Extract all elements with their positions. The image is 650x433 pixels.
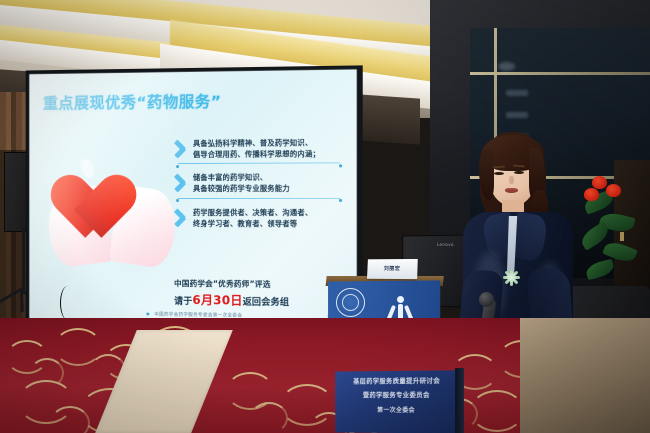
nose <box>509 176 514 184</box>
banner-line-2: 暨药学服务专业委员会 <box>335 390 459 399</box>
bullet-dot <box>176 199 179 202</box>
chevron-right-icon <box>174 174 187 193</box>
microphone-head <box>479 292 494 307</box>
bullet-underline <box>178 163 340 165</box>
bullet-dot <box>339 164 342 167</box>
bullet-line: 具备较强的药学专业服务能力 <box>193 183 346 194</box>
window-reflection <box>506 112 528 118</box>
list-item: 药学服务提供者、决策者、沟通者、 终身学习者、教育者、领导者等 <box>174 207 346 230</box>
window-mullion <box>470 72 650 75</box>
cable <box>60 286 75 320</box>
bullet-text: 储备丰富的药学知识、 具备较强的药学专业服务能力 <box>193 172 346 195</box>
chevron-right-icon <box>174 209 187 228</box>
flower <box>592 176 607 189</box>
seal-emblem-icon <box>336 288 365 317</box>
hair-side <box>479 148 494 200</box>
bullet-underline <box>178 198 340 199</box>
bullet-line: 具备弘扬科学精神、普及药学知识、 <box>193 137 346 149</box>
bullet-line: 药学服务提供者、决策者、沟通者、 <box>193 207 346 218</box>
bullet-line: 终身学习者、教育者、领导者等 <box>193 218 346 230</box>
potted-plant <box>578 170 650 290</box>
flower <box>584 188 599 201</box>
list-item: 储备丰富的药学知识、 具备较强的药学专业服务能力 <box>174 172 346 199</box>
nameplate: 刘丽宏 <box>367 259 418 279</box>
floor-tile <box>520 318 650 433</box>
logo-head <box>397 296 404 303</box>
closing-prefix: 请于 <box>174 297 192 307</box>
slide-bullet-list: 具备弘扬科学精神、普及药学知识、 倡导合理用药、传播科学思想的内涵； 储备丰富的… <box>174 137 346 238</box>
bullet-text: 具备弘扬科学精神、普及药学知识、 倡导合理用药、传播科学思想的内涵； <box>193 137 346 160</box>
hands-holding-heart-icon <box>51 146 173 264</box>
conference-photo-scene: 重点展现优秀“药物服务” 具备弘扬科学精神、普及药学知识、 倡导合理用药、传播科… <box>0 0 650 433</box>
bullet-line: 储备丰富的药学知识、 <box>193 172 346 184</box>
mouth <box>505 188 518 193</box>
event-banner: 基层药学服务质量提升研讨会暨药学服务专业委员会第一次全委会 <box>335 370 459 433</box>
leaf <box>585 259 616 280</box>
floral-brooch-icon <box>503 269 520 286</box>
speaker-stand <box>22 228 25 294</box>
window-reflection <box>498 62 515 71</box>
closing-suffix: 返回会务组 <box>243 298 290 309</box>
closing-deadline: 6月30日 <box>192 293 242 308</box>
banner-side-edge <box>455 368 464 433</box>
list-item: 具备弘扬科学精神、普及药学知识、 倡导合理用药、传播科学思想的内涵； <box>174 137 346 165</box>
bullet-line: 倡导合理用药、传播科学思想的内涵； <box>193 148 346 160</box>
projection-screen: 重点展现优秀“药物服务” 具备弘扬科学精神、普及药学知识、 倡导合理用药、传播科… <box>29 70 356 337</box>
chevron-right-icon <box>174 140 187 159</box>
bullet-dot <box>339 199 342 202</box>
banner-line-1: 基层药学服务质量提升研讨会 <box>335 375 459 385</box>
laptop-brand-label: Lenovo <box>437 242 454 247</box>
footer-dot <box>146 312 149 315</box>
slide-title: 重点展现优秀“药物服务” <box>43 90 221 114</box>
flower <box>606 184 621 197</box>
window-reflection <box>506 90 528 96</box>
bullet-dot <box>176 165 179 168</box>
nameplate-text: 刘丽宏 <box>367 259 417 272</box>
banner-line-3: 第一次全委会 <box>335 405 459 414</box>
bullet-text: 药学服务提供者、决策者、沟通者、 终身学习者、教育者、领导者等 <box>193 207 346 230</box>
